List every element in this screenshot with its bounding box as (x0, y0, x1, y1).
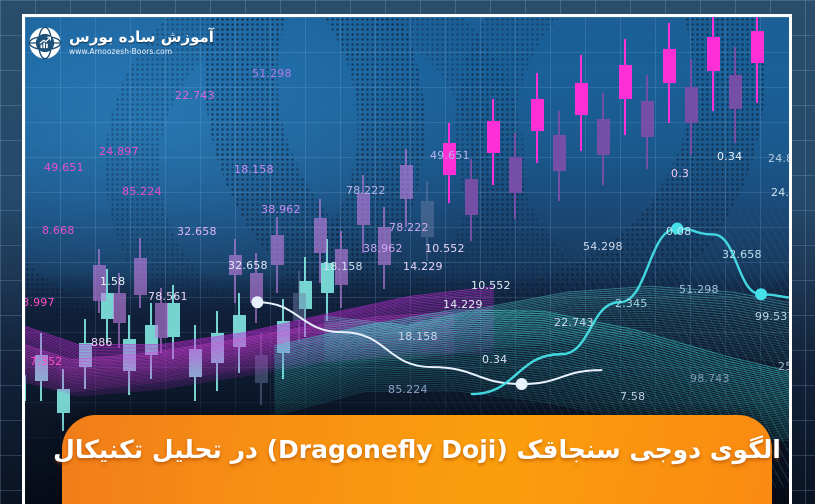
price-label: 0.08 (666, 225, 691, 238)
price-label: 49.651 (44, 161, 84, 174)
banner-title: الگوی دوجی سنجاقک (Dragonefly Doji) در ت… (53, 435, 781, 490)
price-label: 10.552 (425, 242, 465, 255)
price-label: 18.158 (234, 163, 274, 176)
price-label: 38.962 (363, 242, 403, 255)
brand-logo[interactable]: آموزش ساده بورس www.Amoozesh-Boors.com (28, 26, 214, 60)
price-label: 32.658 (177, 225, 217, 238)
price-label: 24.897 (768, 152, 789, 165)
price-label: 18.158 (398, 330, 438, 343)
price-label: 99.537 (755, 310, 789, 323)
price-label: 886 (91, 336, 113, 349)
price-label: 98.743 (690, 372, 730, 385)
price-label: 85.224 (388, 383, 428, 396)
price-label: 14.229 (443, 298, 483, 311)
price-label: 1.58 (100, 275, 125, 288)
price-label: 78.561 (148, 290, 188, 303)
price-label: 78.222 (389, 221, 429, 234)
price-label: 38.962 (261, 203, 301, 216)
price-label: 2.345 (615, 297, 648, 310)
globe-chart-icon (28, 26, 62, 60)
price-label: 22.743 (175, 89, 215, 102)
price-label: 24.897 (771, 186, 789, 199)
price-label: 0.34 (482, 353, 507, 366)
price-label: 0.3 (671, 167, 689, 180)
price-label: 22.743 (554, 316, 594, 329)
brand-url: www.Amoozesh-Boors.com (69, 48, 214, 56)
price-label: 54.298 (583, 240, 623, 253)
price-label: 25.886 (778, 360, 789, 373)
banner-image: 99751.29822.74324.89749.65118.15885.2243… (0, 0, 815, 504)
price-label: 0.34 (717, 150, 742, 163)
price-label: 10.552 (471, 279, 511, 292)
price-label: 32.658 (228, 259, 268, 272)
price-label: 32.658 (722, 248, 762, 261)
price-label: 78.222 (346, 184, 386, 197)
price-label: 8.668 (42, 224, 75, 237)
price-label: 24.897 (99, 145, 139, 158)
price-label: 85.224 (122, 185, 162, 198)
price-label: 7.352 (30, 355, 63, 368)
price-label: 18.158 (323, 260, 363, 273)
price-label: 51.298 (679, 283, 719, 296)
brand-name-fa: آموزش ساده بورس (69, 30, 214, 45)
price-label: 43.997 (25, 296, 55, 309)
price-label: 7.58 (620, 390, 645, 403)
price-label: 51.298 (252, 67, 292, 80)
price-label: 14.229 (403, 260, 443, 273)
price-label: 49.651 (430, 149, 470, 162)
title-banner: الگوی دوجی سنجاقک (Dragonefly Doji) در ت… (62, 415, 772, 504)
